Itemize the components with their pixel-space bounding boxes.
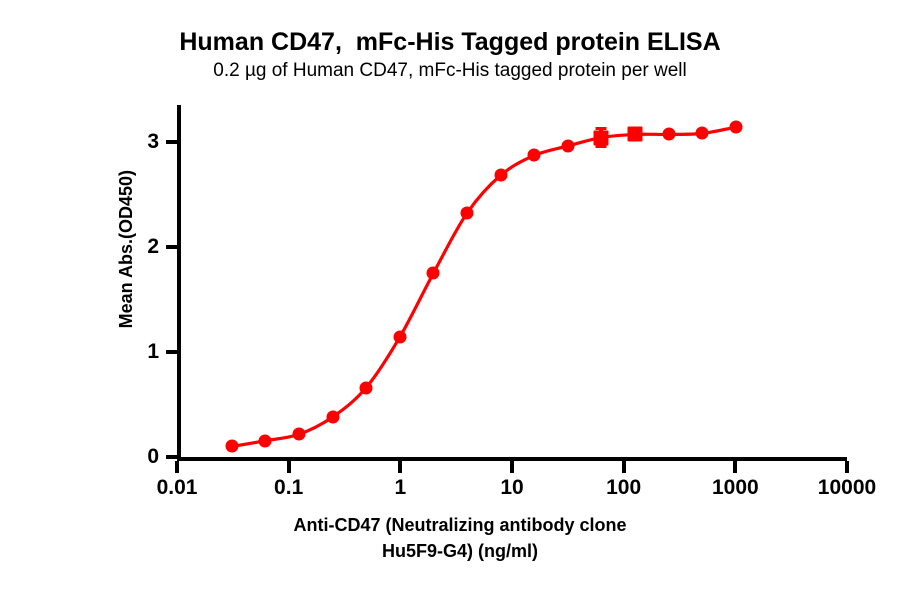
x-axis-title: Anti-CD47 (Neutralizing antibody clone H… xyxy=(150,512,770,564)
y-tick-label: 3 xyxy=(147,130,159,154)
data-point xyxy=(460,207,473,220)
y-axis-title: Mean Abs.(OD450) xyxy=(112,170,140,328)
x-tick-label: 1000 xyxy=(712,476,759,500)
x-tick-10000 xyxy=(845,461,849,473)
x-axis-title-line-2: Hu5F9-G4) (ng/ml) xyxy=(150,538,770,564)
y-tick-0: 0 xyxy=(166,455,177,459)
x-tick-0.1 xyxy=(287,461,291,473)
y-tick-3: 3 xyxy=(166,140,177,144)
x-tick-label: 100 xyxy=(606,476,641,500)
x-tick-label: 0.1 xyxy=(274,476,303,500)
data-point xyxy=(662,128,675,141)
page-title: Human CD47, mFc-His Tagged protein ELISA xyxy=(0,28,900,57)
x-tick-100 xyxy=(622,461,626,473)
data-point xyxy=(561,139,574,152)
x-tick-label: 1 xyxy=(394,476,406,500)
x-axis-title-line-1: Anti-CD47 (Neutralizing antibody clone xyxy=(150,512,770,538)
data-points-layer xyxy=(177,105,847,461)
data-point xyxy=(594,130,609,145)
data-point xyxy=(393,331,406,344)
y-tick-label: 2 xyxy=(147,235,159,259)
data-point xyxy=(360,381,373,394)
x-tick-label: 0.01 xyxy=(157,476,198,500)
x-tick-label: 10000 xyxy=(818,476,876,500)
chart-subtitle: 0.2 µg of Human CD47, mFc-His tagged pro… xyxy=(0,60,900,82)
data-point xyxy=(225,440,238,453)
y-tick-label: 0 xyxy=(147,445,159,469)
data-point xyxy=(259,434,272,447)
data-point xyxy=(292,428,305,441)
y-tick-1: 1 xyxy=(166,350,177,354)
x-tick-0.01 xyxy=(175,461,179,473)
data-point xyxy=(326,411,339,424)
plot-area: 0123 0.010.1110100100010000 xyxy=(177,105,847,457)
y-tick-2: 2 xyxy=(166,245,177,249)
x-tick-1 xyxy=(398,461,402,473)
data-point xyxy=(628,127,643,142)
y-tick-label: 1 xyxy=(147,340,159,364)
data-point xyxy=(427,267,440,280)
x-tick-1000 xyxy=(733,461,737,473)
data-point xyxy=(494,169,507,182)
data-point xyxy=(528,149,541,162)
error-bar-cap xyxy=(596,145,607,148)
x-tick-10 xyxy=(510,461,514,473)
chart-page: Human CD47, mFc-His Tagged protein ELISA… xyxy=(0,0,900,594)
data-point xyxy=(696,127,709,140)
x-tick-label: 10 xyxy=(500,476,523,500)
data-point xyxy=(729,121,742,134)
